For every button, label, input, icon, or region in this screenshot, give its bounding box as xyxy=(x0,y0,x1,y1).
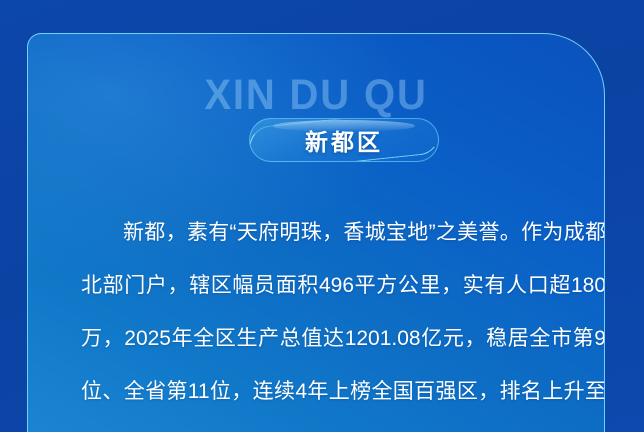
district-description: 新都，素有“天府明珠，香城宝地”之美誉。作为成都北部门户，辖区幅员面积496平方… xyxy=(81,206,605,432)
poster-canvas: XIN DU QU 新都区 新都，素有“天府明珠，香城宝地”之美誉。作为成都北部… xyxy=(0,0,644,432)
pinyin-watermark: XIN DU QU xyxy=(47,72,585,118)
district-badge-label: 新都区 xyxy=(305,123,383,157)
info-card: XIN DU QU 新都区 新都，素有“天府明珠，香城宝地”之美誉。作为成都北部… xyxy=(27,33,605,432)
district-badge: 新都区 xyxy=(249,118,439,162)
